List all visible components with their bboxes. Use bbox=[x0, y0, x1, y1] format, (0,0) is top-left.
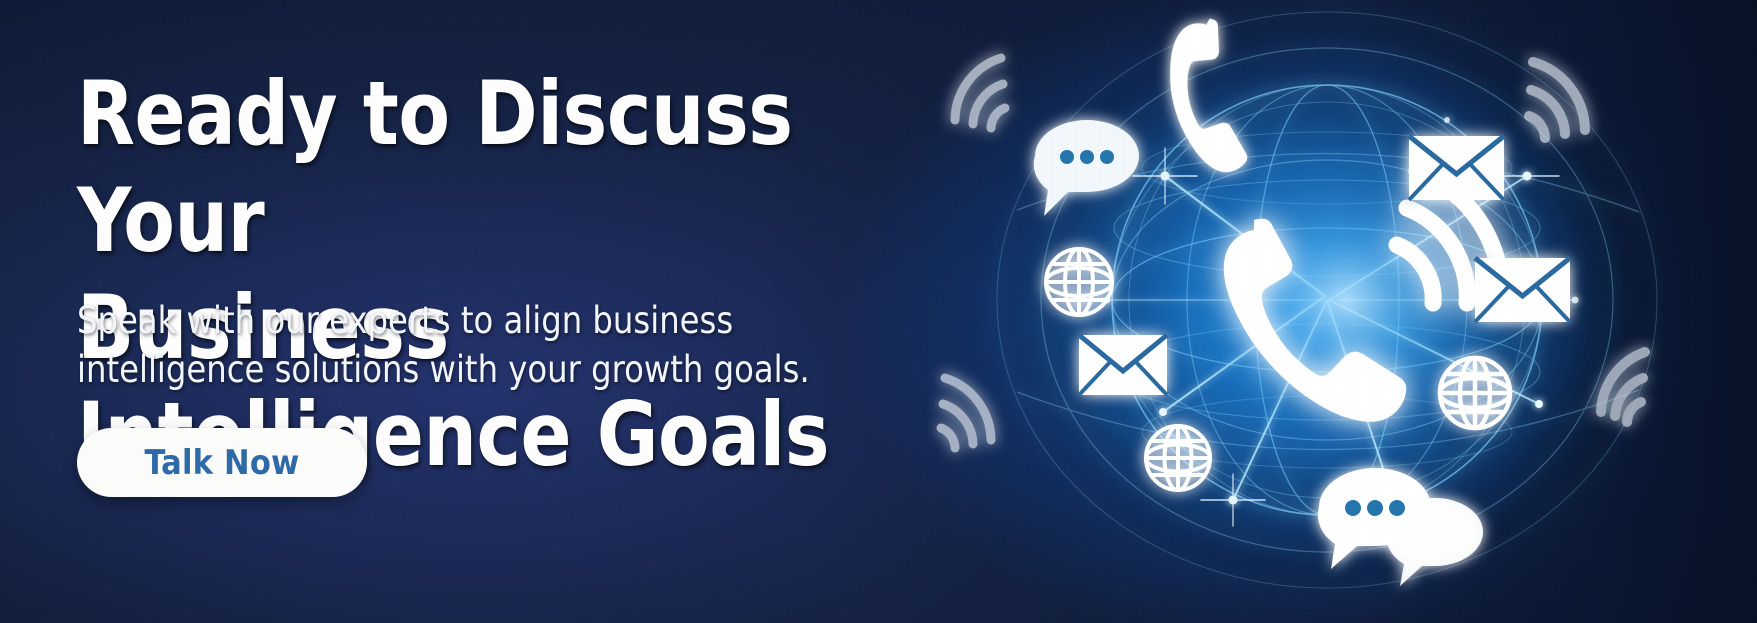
talk-now-button-label: Talk Now bbox=[144, 443, 299, 483]
signal-waves-icon bbox=[955, 58, 1005, 128]
envelope-icon bbox=[1409, 136, 1504, 200]
envelope-icon bbox=[1475, 258, 1570, 322]
globe-icon bbox=[1146, 426, 1210, 490]
page-title: Ready to Discuss Your Business Intellige… bbox=[77, 60, 913, 488]
envelope-icon bbox=[1079, 335, 1167, 395]
globe-icon bbox=[1440, 358, 1510, 428]
communication-network-artwork bbox=[927, 0, 1757, 623]
cta-banner: Ready to Discuss Your Business Intellige… bbox=[0, 0, 1757, 623]
subtitle-text: Speak with our experts to align business… bbox=[77, 296, 814, 394]
copy-block: Ready to Discuss Your Business Intellige… bbox=[77, 0, 957, 623]
globe-icon bbox=[1046, 249, 1112, 315]
talk-now-button[interactable]: Talk Now bbox=[77, 428, 367, 497]
